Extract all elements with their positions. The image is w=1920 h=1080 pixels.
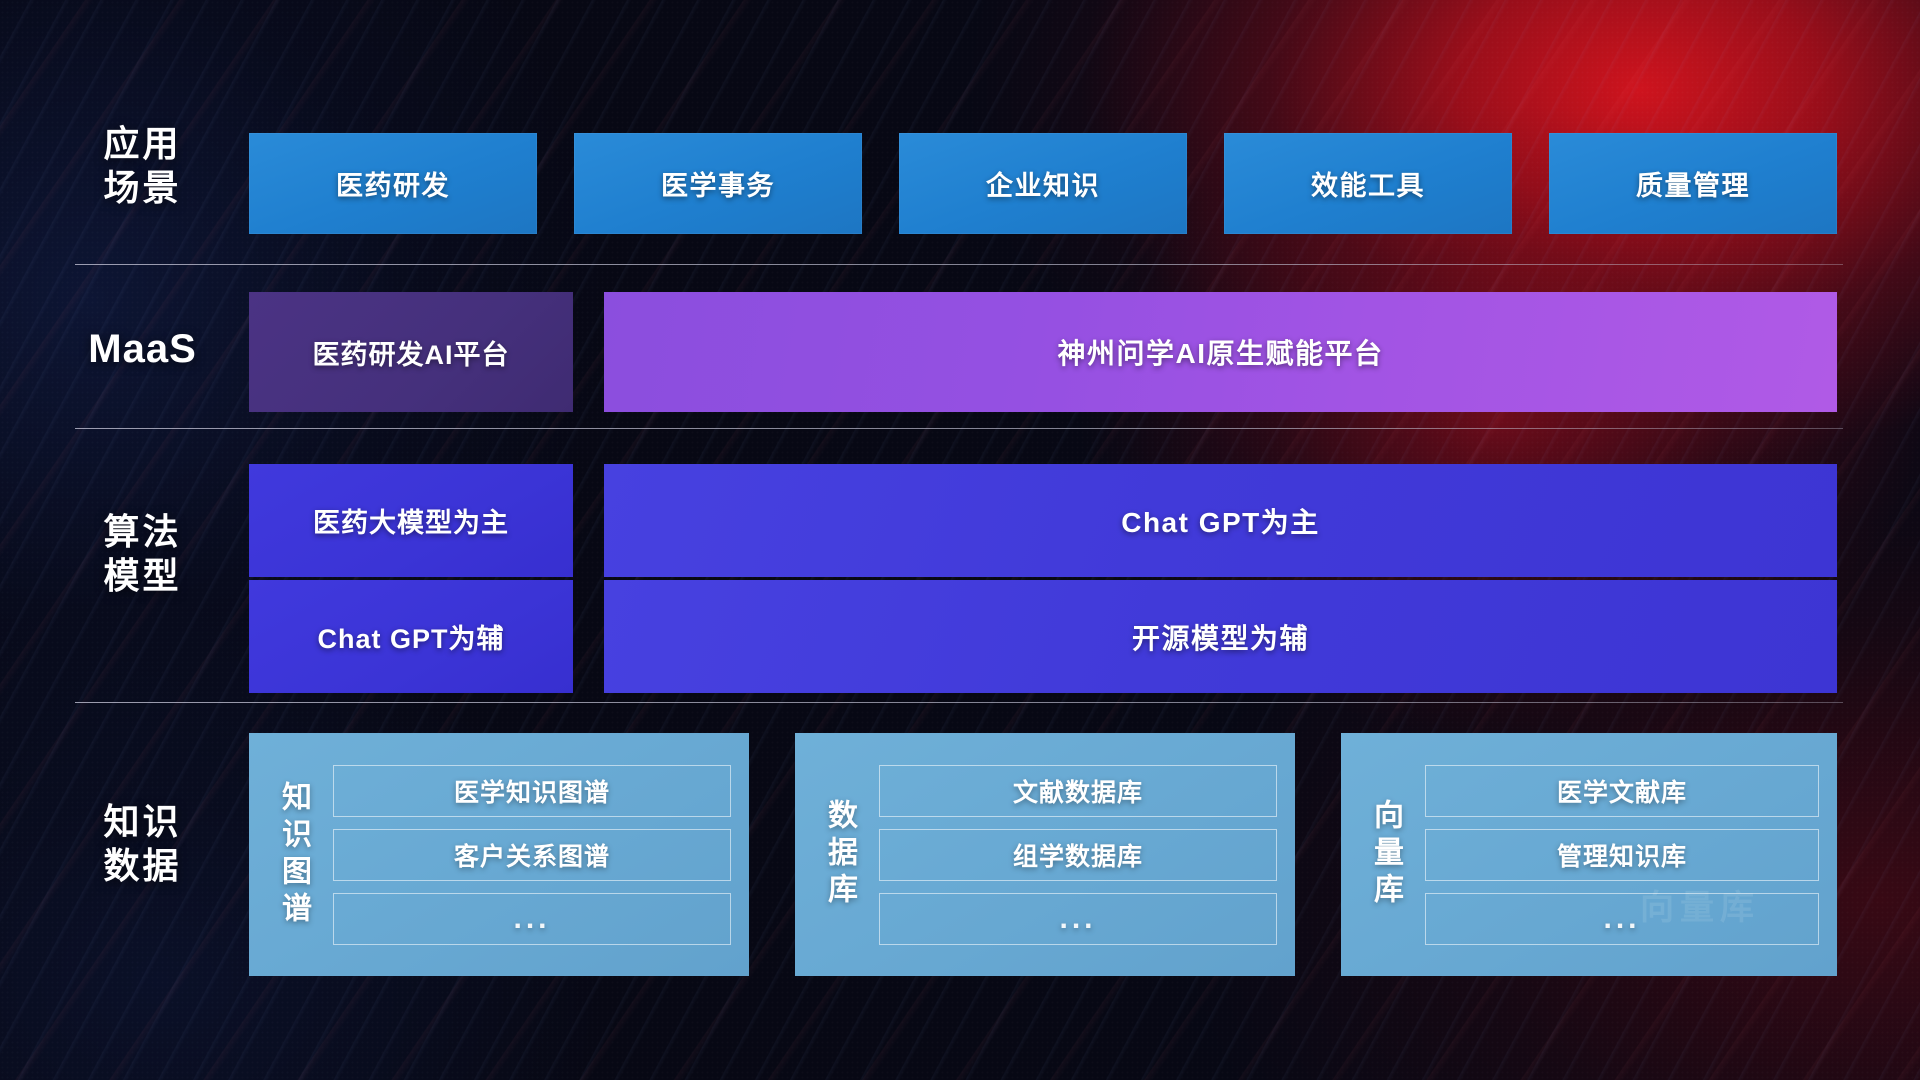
knowledge-card-items: 医学文献库 管理知识库 ... — [1425, 765, 1819, 945]
knowledge-item[interactable]: 客户关系图谱 — [333, 829, 731, 881]
maas-left-box[interactable]: 医药研发AI平台 — [249, 292, 573, 412]
app-scenario-label: 企业知识 — [986, 164, 1100, 203]
knowledge-card-items: 医学知识图谱 客户关系图谱 ... — [333, 765, 731, 945]
algorithm-right-label: Chat GPT为主 — [1121, 501, 1320, 541]
app-scenario-box-2[interactable]: 医学事务 — [574, 133, 862, 234]
knowledge-item[interactable]: 医学知识图谱 — [333, 765, 731, 817]
knowledge-card-vertical-label: 知识图谱 — [265, 781, 321, 929]
maas-right-label: 神州问学AI原生赋能平台 — [1057, 332, 1383, 372]
knowledge-item[interactable]: 组学数据库 — [879, 829, 1277, 881]
knowledge-card-database[interactable]: 数据库 文献数据库 组学数据库 ... — [795, 733, 1295, 976]
algorithm-left-label: 医药大模型为主 — [313, 501, 509, 540]
app-scenario-label: 效能工具 — [1311, 164, 1425, 203]
app-scenario-box-5[interactable]: 质量管理 — [1549, 133, 1837, 234]
row-label-knowledge: 知识 数据 — [75, 800, 210, 888]
knowledge-card-items: 文献数据库 组学数据库 ... — [879, 765, 1277, 945]
divider-application-maas — [75, 264, 1843, 265]
divider-maas-algorithm — [75, 428, 1843, 429]
row-label-algorithm: 算法 模型 — [75, 510, 210, 598]
knowledge-card-vector-store[interactable]: 向量库 医学文献库 管理知识库 ... — [1341, 733, 1837, 976]
knowledge-item[interactable]: 文献数据库 — [879, 765, 1277, 817]
app-scenario-box-4[interactable]: 效能工具 — [1224, 133, 1512, 234]
knowledge-item-more[interactable]: ... — [1425, 893, 1819, 945]
algorithm-right-box-1[interactable]: Chat GPT为主 — [604, 464, 1837, 577]
diagram-canvas: 应用 场景 MaaS 算法 模型 知识 数据 医药研发 医学事务 企业知识 效能… — [0, 0, 1920, 1080]
knowledge-item-more[interactable]: ... — [879, 893, 1277, 945]
algorithm-left-label: Chat GPT为辅 — [317, 617, 504, 656]
algorithm-right-box-2[interactable]: 开源模型为辅 — [604, 580, 1837, 693]
algorithm-left-box-2[interactable]: Chat GPT为辅 — [249, 580, 573, 693]
knowledge-card-vertical-label: 向量库 — [1357, 799, 1413, 910]
app-scenario-label: 质量管理 — [1636, 164, 1750, 203]
knowledge-item[interactable]: 管理知识库 — [1425, 829, 1819, 881]
knowledge-item-more[interactable]: ... — [333, 893, 731, 945]
app-scenario-box-1[interactable]: 医药研发 — [249, 133, 537, 234]
knowledge-item[interactable]: 医学文献库 — [1425, 765, 1819, 817]
knowledge-card-knowledge-graph[interactable]: 知识图谱 医学知识图谱 客户关系图谱 ... — [249, 733, 749, 976]
algorithm-left-box-1[interactable]: 医药大模型为主 — [249, 464, 573, 577]
row-label-application: 应用 场景 — [75, 122, 210, 210]
row-label-maas: MaaS — [75, 325, 210, 374]
knowledge-card-vertical-label: 数据库 — [811, 799, 867, 910]
maas-right-box[interactable]: 神州问学AI原生赋能平台 — [604, 292, 1837, 412]
app-scenario-box-3[interactable]: 企业知识 — [899, 133, 1187, 234]
app-scenario-label: 医学事务 — [661, 164, 775, 203]
algorithm-right-label: 开源模型为辅 — [1132, 617, 1309, 657]
maas-left-label: 医药研发AI平台 — [313, 333, 510, 372]
app-scenario-label: 医药研发 — [336, 164, 450, 203]
divider-algorithm-knowledge — [75, 702, 1843, 703]
